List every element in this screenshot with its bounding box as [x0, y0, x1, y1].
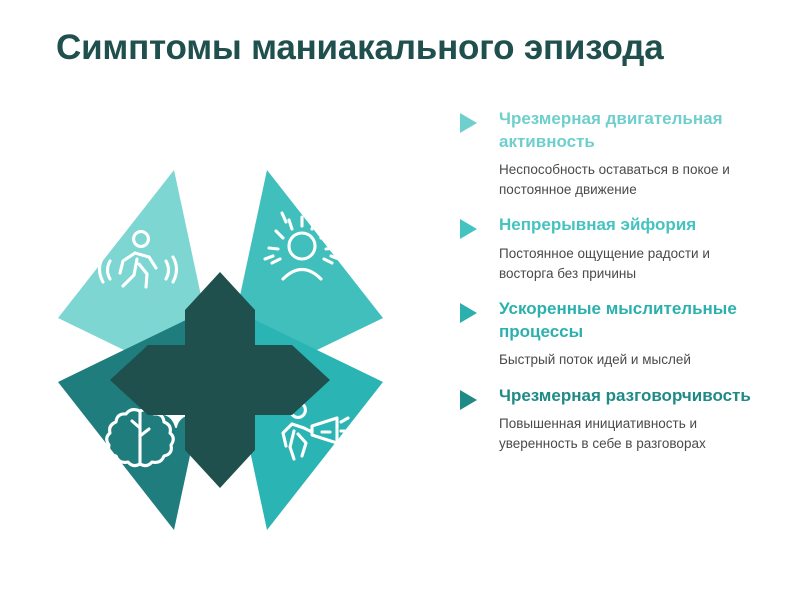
symptom-heading: Чрезмерная двигательная активность	[499, 108, 760, 153]
symptom-heading: Непрерывная эйфория	[499, 214, 760, 237]
triangle-bullet-icon	[460, 303, 477, 323]
list-item: Непрерывная эйфория Постоянное ощущение …	[460, 214, 760, 283]
triangle-bullet-icon	[460, 219, 477, 239]
symptom-diagram	[40, 160, 400, 540]
triangle-bullet-icon	[460, 390, 477, 410]
symptom-heading: Ускоренные мыслительные процессы	[499, 298, 760, 343]
symptom-description: Повышенная инициативность и уверенность …	[499, 414, 760, 453]
symptom-description: Неспособность оставаться в покое и посто…	[499, 160, 760, 199]
symptom-description: Постоянное ощущение радости и восторга б…	[499, 244, 760, 283]
triangle-bullet-icon	[460, 113, 477, 133]
list-item: Чрезмерная разговорчивость Повышенная ин…	[460, 385, 760, 454]
list-item: Ускоренные мыслительные процессы Быстрый…	[460, 298, 760, 370]
symptom-heading: Чрезмерная разговорчивость	[499, 385, 760, 408]
page-title: Симптомы маниакального эпизода	[56, 28, 664, 68]
list-item: Чрезмерная двигательная активность Неспо…	[460, 108, 760, 199]
symptom-list: Чрезмерная двигательная активность Неспо…	[460, 108, 760, 469]
symptom-description: Быстрый поток идей и мыслей	[499, 350, 760, 370]
